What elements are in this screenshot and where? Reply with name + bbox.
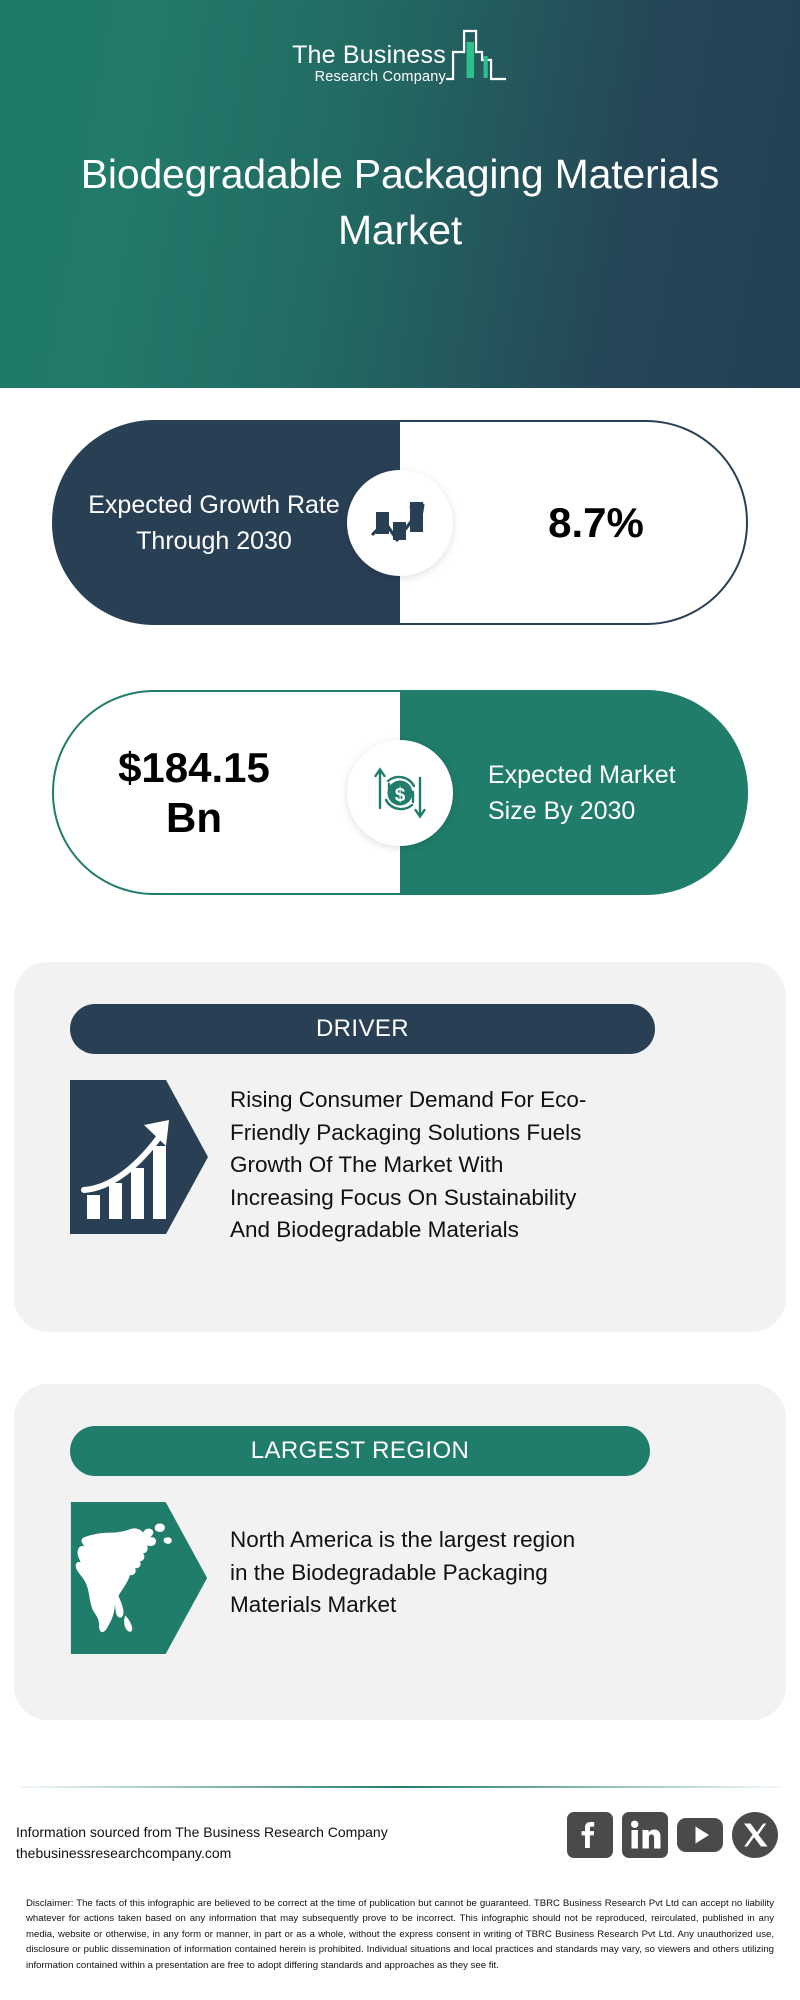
growth-chart-arrow-icon: [370, 496, 430, 550]
section-body: North America is the largest region in t…: [70, 1502, 746, 1654]
section-body-text: North America is the largest region in t…: [230, 1502, 590, 1622]
facebook-icon[interactable]: [567, 1812, 613, 1858]
bar-chart-growth-hexagon-icon: [70, 1080, 208, 1234]
logo-line-2: Research Company: [292, 69, 446, 86]
linkedin-icon[interactable]: ™: [622, 1812, 668, 1858]
infographic-page: The Business Research Company Biodegrada…: [0, 0, 800, 2000]
source-line-2[interactable]: thebusinessresearchcompany.com: [16, 1843, 388, 1864]
stat-badge-market-size: $: [347, 740, 453, 846]
page-title: Biodegradable Packaging Materials Market: [0, 146, 800, 258]
stat-value-line-1: $184.15: [54, 743, 334, 793]
stat-card-market-size: $184.15 Bn Expected Market Size By 2030: [52, 690, 748, 895]
footer-divider: [18, 1786, 782, 1788]
section-body: Rising Consumer Demand For Eco-Friendly …: [70, 1080, 746, 1247]
stat-value-line-2: Bn: [54, 793, 334, 843]
svg-text:™: ™: [663, 1848, 668, 1854]
stat-card-growth-rate: Expected Growth Rate Through 2030 8.7%: [52, 420, 748, 625]
logo-wordmark: The Business Research Company: [292, 42, 446, 88]
social-links: ™: [567, 1812, 778, 1858]
north-america-map-hexagon-icon: [70, 1502, 208, 1654]
section-driver: DRIVER Rising Consumer Demand For Eco-Fr…: [14, 962, 786, 1332]
dollar-circulation-icon: $: [369, 764, 431, 822]
x-twitter-icon[interactable]: [732, 1812, 778, 1858]
disclaimer-text: Disclaimer: The facts of this infographi…: [26, 1896, 774, 1973]
youtube-icon[interactable]: [677, 1812, 723, 1858]
header-banner: The Business Research Company Biodegrada…: [0, 0, 800, 388]
svg-text:$: $: [395, 785, 406, 806]
source-attribution: Information sourced from The Business Re…: [16, 1822, 388, 1864]
section-pill-driver: DRIVER: [70, 1004, 655, 1054]
source-line-1: Information sourced from The Business Re…: [16, 1822, 388, 1843]
section-body-text: Rising Consumer Demand For Eco-Friendly …: [230, 1080, 590, 1247]
logo-line-1: The Business: [292, 42, 446, 69]
stat-badge-growth: [347, 470, 453, 576]
bar-chart-logo-mark: [444, 26, 508, 88]
section-pill-largest-region: LARGEST REGION: [70, 1426, 650, 1476]
company-logo: The Business Research Company: [292, 26, 508, 88]
section-largest-region: LARGEST REGION North America is the larg…: [14, 1384, 786, 1720]
